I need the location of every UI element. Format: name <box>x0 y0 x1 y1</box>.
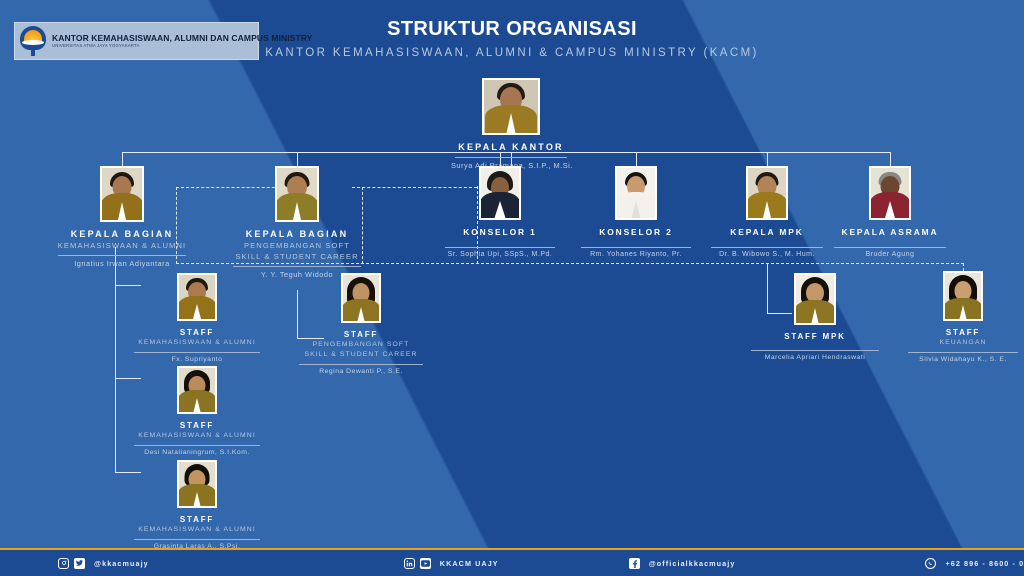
node-role-konselor-2: KONSELOR 2 <box>573 227 699 238</box>
dashed-connector-keuangan-vert <box>963 263 964 271</box>
node-person-staff-mpk: Marcelia Apriari Hendraswati <box>742 354 888 361</box>
node-kabag-softskill[interactable]: KEPALA BAGIAN PENGEMBANGAN SOFT SKILL & … <box>231 166 363 279</box>
footer-bar: @kkacmuajy KKACM UAJY @officialkkacmuajy… <box>0 550 1024 576</box>
avatar-kabag-softskill <box>275 166 319 222</box>
divider <box>834 247 946 248</box>
avatar-konselor-2 <box>615 166 657 220</box>
node-kepala-asrama[interactable]: KEPALA ASRAMA Bruder Agung <box>827 166 953 258</box>
connector-drop-kabag-softskill <box>297 152 298 166</box>
twitter-icon[interactable] <box>74 558 85 569</box>
connector-drop-kepala-mpk <box>767 152 768 166</box>
node-role-kepala-asrama: KEPALA ASRAMA <box>827 227 953 238</box>
node-dept-staff-kemahasiswaan-2: KEMAHASISWAAN & ALUMNI <box>132 432 262 441</box>
node-dept-kabag-softskill-line2: SKILL & STUDENT CAREER <box>231 252 363 262</box>
node-staff-softskill[interactable]: STAFF PENGEMBANGAN SOFT SKILL & STUDENT … <box>297 273 425 375</box>
avatar-kepala-kantor <box>482 78 540 135</box>
avatar-kepala-asrama <box>869 166 911 220</box>
avatar-staff-kemahasiswaan-2 <box>177 366 217 414</box>
footer-label-instagram-twitter: @kkacmuajy <box>94 559 149 568</box>
node-staff-mpk[interactable]: STAFF MPK Marcelia Apriari Hendraswati <box>742 273 888 361</box>
node-role-staff-kemahasiswaan-2: STAFF <box>132 421 262 431</box>
node-kepala-kantor[interactable]: KEPALA KANTOR Surya Adi Pramana, S.I.P.,… <box>451 78 571 170</box>
youtube-icon[interactable] <box>420 558 431 569</box>
connector-kemahasiswaan-chain-3 <box>115 378 116 472</box>
avatar-staff-softskill <box>341 273 381 323</box>
node-role-staff-keuangan: STAFF <box>906 328 1020 338</box>
divider <box>581 247 691 248</box>
whatsapp-icon[interactable] <box>925 558 936 569</box>
node-dept-staff-kemahasiswaan-3: KEMAHASISWAAN & ALUMNI <box>132 526 262 535</box>
avatar-staff-keuangan <box>943 271 983 321</box>
node-role-staff-kemahasiswaan-1: STAFF <box>132 328 262 338</box>
node-staff-kemahasiswaan-2[interactable]: STAFF KEMAHASISWAAN & ALUMNI Desi Natali… <box>132 366 262 456</box>
connector-drop-kabag-kemahasiswaan <box>122 152 123 166</box>
page-subtitle: KANTOR KEMAHASISWAAN, ALUMNI & CAMPUS MI… <box>0 47 1024 59</box>
node-staff-kemahasiswaan-3[interactable]: STAFF KEMAHASISWAAN & ALUMNI Grasinta La… <box>132 460 262 550</box>
avatar-staff-kemahasiswaan-1 <box>177 273 217 321</box>
node-person-staff-kemahasiswaan-2: Desi Natalianingrum, S.I.Kom. <box>132 449 262 456</box>
footer-item-facebook[interactable]: @officialkkacmuajy <box>629 558 736 569</box>
node-role-staff-mpk: STAFF MPK <box>742 332 888 342</box>
avatar-staff-kemahasiswaan-3 <box>177 460 217 508</box>
node-konselor-1[interactable]: KONSELOR 1 Sr. Sophia Upi, SSpS., M.Pd. <box>437 166 563 258</box>
divider <box>751 350 879 351</box>
divider <box>455 157 567 158</box>
divider <box>134 445 260 446</box>
node-dept-staff-kemahasiswaan-1: KEMAHASISWAAN & ALUMNI <box>132 339 262 348</box>
divider <box>134 352 260 353</box>
divider <box>299 364 423 365</box>
facebook-icon[interactable] <box>629 558 640 569</box>
node-role-kepala-mpk: KEPALA MPK <box>704 227 830 238</box>
node-dept-kabag-softskill-line1: PENGEMBANGAN SOFT <box>231 241 363 251</box>
node-person-konselor-1: Sr. Sophia Upi, SSpS., M.Pd. <box>437 251 563 258</box>
connector-drop-kepala-asrama <box>890 152 891 166</box>
footer-item-whatsapp[interactable]: +62 896 - 8600 - 0806 (chat WA) <box>925 558 1024 569</box>
node-role-konselor-1: KONSELOR 1 <box>437 227 563 238</box>
node-role-staff-kemahasiswaan-3: STAFF <box>132 515 262 525</box>
node-role-kabag-kemahasiswaan: KEPALA BAGIAN <box>56 229 188 240</box>
node-role-kabag-softskill: KEPALA BAGIAN <box>231 229 363 240</box>
node-person-kepala-mpk: Dr. B. Wibowo S., M. Hum. <box>704 251 830 258</box>
divider <box>908 352 1018 353</box>
node-person-staff-keuangan: Silvia Widahayu K., S. E. <box>906 356 1020 363</box>
page-title: STRUKTUR ORGANISASI <box>0 18 1024 41</box>
avatar-kepala-mpk <box>746 166 788 220</box>
node-staff-kemahasiswaan-1[interactable]: STAFF KEMAHASISWAAN & ALUMNI Fx. Supriya… <box>132 273 262 363</box>
node-dept-staff-softskill-line2: SKILL & STUDENT CAREER <box>297 351 425 360</box>
node-kabag-kemahasiswaan[interactable]: KEPALA BAGIAN KEMAHASISWAAN & ALUMNI Ign… <box>56 166 188 268</box>
node-person-kepala-asrama: Bruder Agung <box>827 251 953 258</box>
node-dept-staff-keuangan: KEUANGAN <box>906 339 1020 348</box>
organization-chart-poster: KANTOR KEMAHASISWAAN, ALUMNI DAN CAMPUS … <box>0 0 1024 576</box>
node-role-kepala-kantor: KEPALA KANTOR <box>451 142 571 153</box>
node-konselor-2[interactable]: KONSELOR 2 Rm. Yohanes Riyanto, Pr. <box>573 166 699 258</box>
linkedin-icon[interactable] <box>404 558 415 569</box>
footer-item-instagram-twitter[interactable]: @kkacmuajy <box>58 558 149 569</box>
node-person-staff-kemahasiswaan-1: Fx. Supriyanto <box>132 356 262 363</box>
footer-label-linkedin-youtube: KKACM UAJY <box>440 559 499 568</box>
divider <box>711 247 823 248</box>
avatar-staff-mpk <box>794 273 836 325</box>
node-kepala-mpk[interactable]: KEPALA MPK Dr. B. Wibowo S., M. Hum. <box>704 166 830 258</box>
divider <box>58 255 186 256</box>
node-person-staff-softskill: Regina Dewanti P., S.E. <box>297 368 425 375</box>
divider <box>233 266 361 267</box>
footer-label-facebook: @officialkkacmuajy <box>649 559 736 568</box>
avatar-kabag-kemahasiswaan <box>100 166 144 222</box>
node-person-kabag-kemahasiswaan: Ignatius Irwan Adiyantara <box>56 259 188 268</box>
avatar-konselor-1 <box>479 166 521 220</box>
instagram-icon[interactable] <box>58 558 69 569</box>
node-dept-staff-softskill-line1: PENGEMBANGAN SOFT <box>297 341 425 350</box>
footer-item-linkedin-youtube[interactable]: KKACM UAJY <box>404 558 499 569</box>
divider <box>445 247 555 248</box>
footer-label-whatsapp: +62 896 - 8600 - 0806 (chat WA) <box>945 559 1024 568</box>
connector-drop-konselor2 <box>636 152 637 166</box>
node-dept-kabag-kemahasiswaan: KEMAHASISWAAN & ALUMNI <box>56 241 188 251</box>
node-role-staff-softskill: STAFF <box>297 330 425 340</box>
divider <box>134 539 260 540</box>
connector-kemahasiswaan-chain-2 <box>115 285 116 378</box>
node-person-konselor-2: Rm. Yohanes Riyanto, Pr. <box>573 251 699 258</box>
node-staff-keuangan[interactable]: STAFF KEUANGAN Silvia Widahayu K., S. E. <box>906 271 1020 363</box>
